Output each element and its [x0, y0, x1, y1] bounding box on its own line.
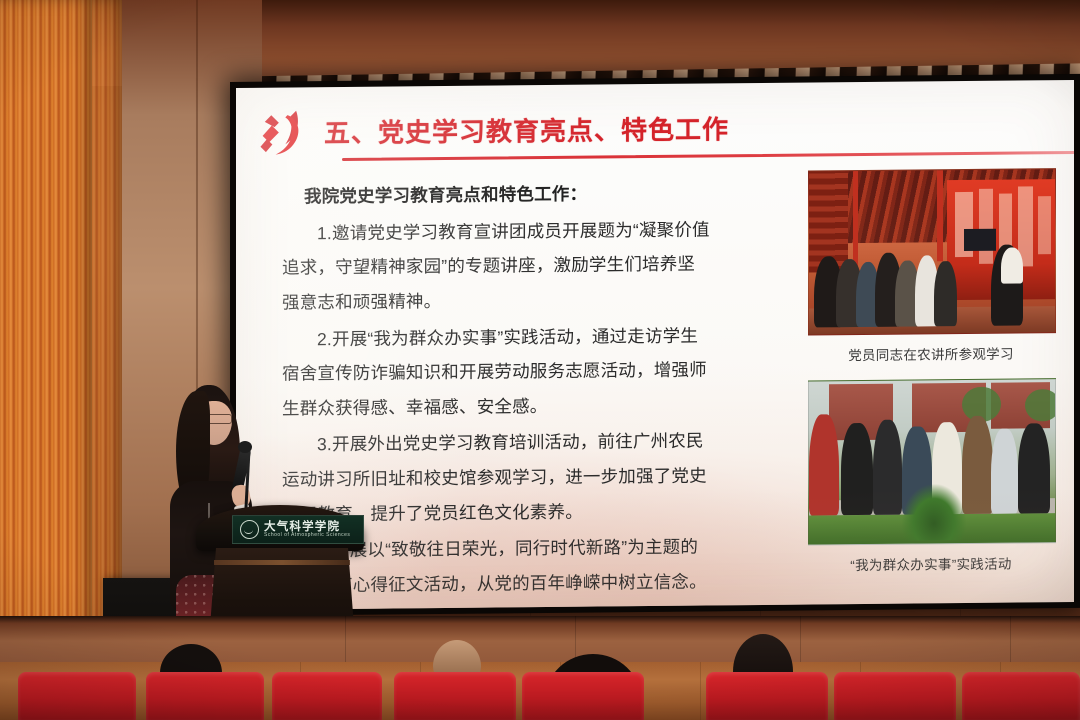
- photo-block-1: 党员同志在农讲所参观学习: [808, 168, 1054, 364]
- auditorium-seat: [834, 672, 956, 720]
- photo-tree: [1025, 389, 1056, 422]
- school-seal-logo-icon: [240, 520, 259, 539]
- slide-paragraph-2: 2.开展“我为群众办实事”实践活动，通过走访学生宿舍宣传防诈骗知识和开展劳动服务…: [282, 318, 712, 426]
- lectern-nameplate: 大气科学学院 School of Atmospheric Sciences: [232, 515, 364, 544]
- photo-block-2: “我为群众办实事”实践活动: [808, 378, 1054, 574]
- photo-display-screen: [964, 228, 996, 251]
- auditorium-seat: [146, 672, 264, 720]
- ribbed-acoustic-panel: [0, 0, 92, 720]
- auditorium-seat: [18, 672, 136, 720]
- auditorium-seat: [706, 672, 828, 720]
- slide-title: 五、党史学习教育亮点、特色工作: [324, 109, 729, 150]
- photo-caption-2: “我为群众办实事”实践活动: [808, 543, 1054, 574]
- auditorium-seat: [394, 672, 516, 720]
- photo-beam: [937, 170, 943, 261]
- auditorium-seat: [962, 672, 1080, 720]
- lecture-hall-scene: 五、党史学习教育亮点、特色工作 我院党史学习教育亮点和特色工作： 1.邀请党史学…: [0, 0, 1080, 720]
- auditorium-seat: [272, 672, 382, 720]
- exhibition-hall-photo: [808, 168, 1056, 335]
- photo-beam: [853, 171, 858, 272]
- volunteer-activity-photo: [808, 378, 1056, 545]
- lectern-text: 大气科学学院 School of Atmospheric Sciences: [264, 521, 350, 538]
- photo-caption-1: 党员同志在农讲所参观学习: [808, 333, 1054, 364]
- slide-lead-text: 我院党史学习教育亮点和特色工作：: [282, 175, 712, 214]
- photo-shrub: [902, 484, 966, 540]
- podium-mic-icon: [238, 441, 252, 453]
- lectern-trim: [214, 560, 350, 565]
- auditorium-seat: [522, 672, 644, 720]
- lectern-org-en: School of Atmospheric Sciences: [264, 533, 350, 538]
- cpc-hammer-sickle-emblem-icon: [254, 105, 308, 162]
- slide-paragraph-1: 1.邀请党史学习教育宣讲团成员开展题为“凝聚价值追求，守望精神家园”的专题讲座，…: [282, 212, 712, 320]
- slide-photo-column: 党员同志在农讲所参观学习: [808, 168, 1058, 574]
- title-underline: [342, 151, 1074, 161]
- slide-header: 五、党史学习教育亮点、特色工作: [254, 96, 1060, 170]
